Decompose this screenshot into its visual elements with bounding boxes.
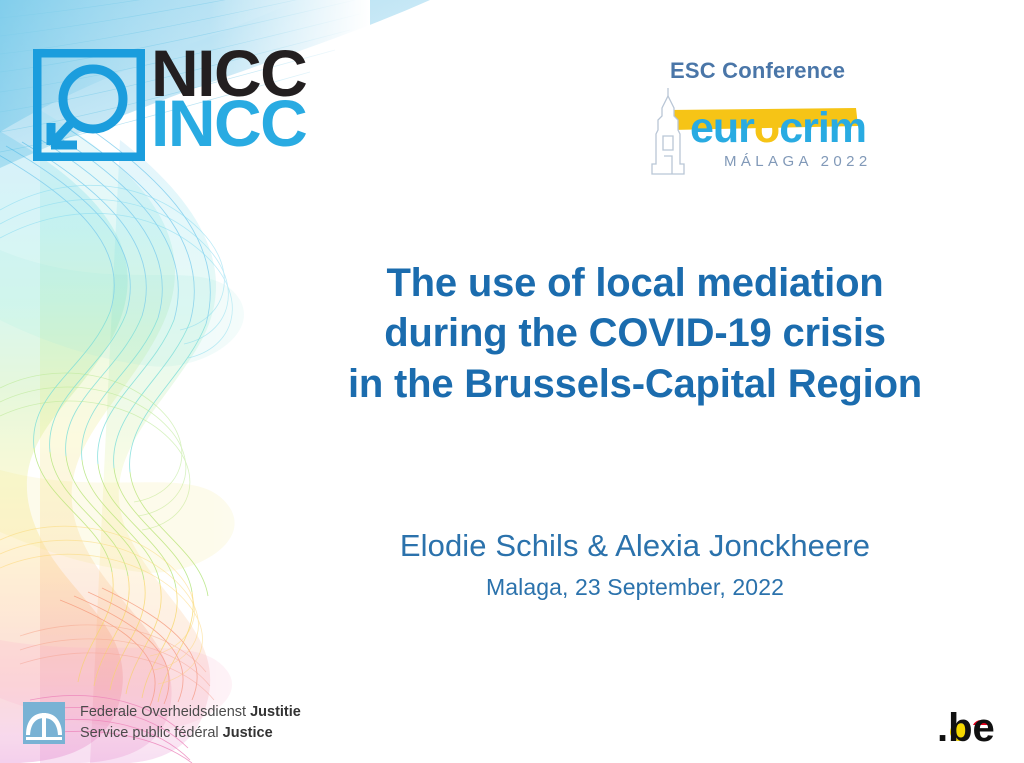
esc-conference-title: ESC Conference xyxy=(670,58,845,84)
author-names: Elodie Schils & Alexia Jonckheere xyxy=(325,528,945,564)
justice-line-fr: Service public fédéral Justice xyxy=(80,723,301,744)
nicc-wordmark-line2: INCC xyxy=(151,96,306,150)
eurocrim-text-post: crim xyxy=(779,104,866,152)
eurocrim-logo: eurocrim MÁLAGA 2022 xyxy=(632,86,887,176)
justice-line-nl-regular: Federale Overheidsdienst xyxy=(80,704,250,720)
eurocrim-text-o: o xyxy=(754,104,779,152)
rainbow-ribbon-decoration xyxy=(0,110,244,763)
justice-arch-icon xyxy=(22,701,66,745)
justice-line-nl: Federale Overheidsdienst Justitie xyxy=(80,702,301,723)
justice-line-fr-bold: Justice xyxy=(223,725,273,741)
dot-be-logo: .be xyxy=(935,699,999,747)
eurocrim-location-year: MÁLAGA 2022 xyxy=(724,153,872,170)
slide-title-line-1: The use of local mediation xyxy=(330,258,940,308)
presentation-slide: NICC INCC ESC Conference eurocrim MÁLAGA… xyxy=(0,0,1024,763)
cathedral-tower-icon xyxy=(652,88,684,174)
nicc-wordmark: NICC INCC xyxy=(151,46,306,150)
nicc-logo: NICC INCC xyxy=(33,46,323,171)
slide-title-line-3: in the Brussels-Capital Region xyxy=(330,359,940,409)
svg-text:eurocrim: eurocrim xyxy=(690,104,866,152)
eurocrim-text-pre: eur xyxy=(690,104,755,152)
justice-line-fr-regular: Service public fédéral xyxy=(80,725,223,741)
event-location-date: Malaga, 23 September, 2022 xyxy=(325,574,945,601)
justice-line-nl-bold: Justitie xyxy=(250,704,301,720)
justice-logo: Federale Overheidsdienst Justitie Servic… xyxy=(22,699,312,751)
dot-be-text: .be xyxy=(937,706,995,747)
slide-title: The use of local mediation during the CO… xyxy=(330,258,940,409)
slide-title-line-2: during the COVID-19 crisis xyxy=(330,308,940,358)
magnifier-square-icon xyxy=(33,49,145,161)
conference-branding: ESC Conference eurocrim MÁLAGA 2022 xyxy=(620,58,910,173)
justice-wordmark: Federale Overheidsdienst Justitie Servic… xyxy=(80,702,301,743)
